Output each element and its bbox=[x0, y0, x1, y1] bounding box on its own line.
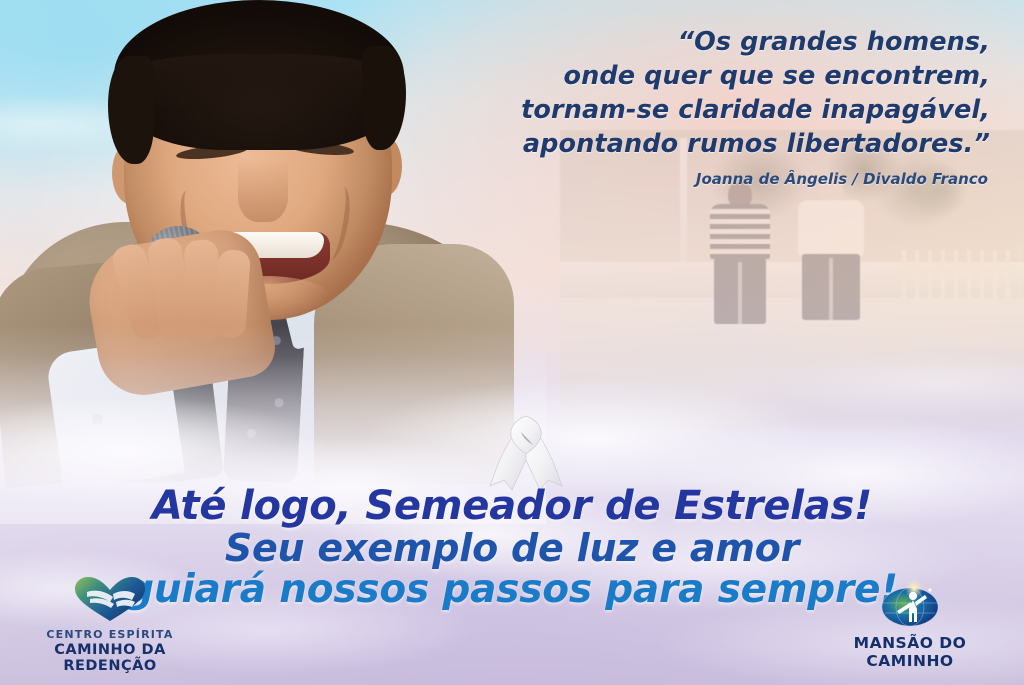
scene-figure-white-shirt bbox=[798, 178, 864, 330]
logo-mansao-do-caminho: MANSÃO DO CAMINHO bbox=[810, 580, 1010, 671]
quote-block: “Os grandes homens, onde quer que se enc… bbox=[430, 26, 990, 162]
globe-figure-icon bbox=[810, 580, 1010, 632]
logo-centro-espirita: CENTRO ESPÍRITA CAMINHO DA REDENÇÃO bbox=[10, 576, 210, 675]
scene-ground bbox=[560, 298, 1024, 430]
logo-left-line-1: CENTRO ESPÍRITA bbox=[10, 629, 210, 642]
figure-torso bbox=[710, 204, 770, 260]
logo-right-line-1: MANSÃO DO CAMINHO bbox=[810, 635, 1010, 671]
nose bbox=[238, 160, 288, 222]
quote-line-2: onde quer que se encontrem, bbox=[430, 60, 990, 94]
hair bbox=[114, 0, 404, 150]
white-mourning-ribbon-icon bbox=[488, 410, 564, 494]
headline-line-2: Seu exemplo de luz e amor bbox=[0, 529, 1024, 568]
quote-attribution: Joanna de Ângelis / Divaldo Franco bbox=[696, 170, 988, 188]
memorial-poster: “Os grandes homens, onde quer que se enc… bbox=[0, 0, 1024, 685]
scene-figure-striped-shirt bbox=[710, 182, 770, 330]
figure-torso bbox=[798, 200, 864, 256]
quote-line-3: tornam-se claridade inapagável, bbox=[430, 94, 990, 128]
heart-hands-icon bbox=[10, 576, 210, 626]
quote-line-4: apontando rumos libertadores.” bbox=[430, 128, 990, 162]
headline-line-1: Até logo, Semeador de Estrelas! bbox=[0, 486, 1024, 527]
figure-legs bbox=[714, 258, 767, 324]
scene-fence bbox=[902, 250, 1020, 302]
logo-left-line-2: CAMINHO DA REDENÇÃO bbox=[10, 642, 210, 675]
quote-line-1: “Os grandes homens, bbox=[430, 26, 990, 60]
figure-legs bbox=[802, 254, 860, 320]
hair-side-left bbox=[108, 56, 154, 164]
